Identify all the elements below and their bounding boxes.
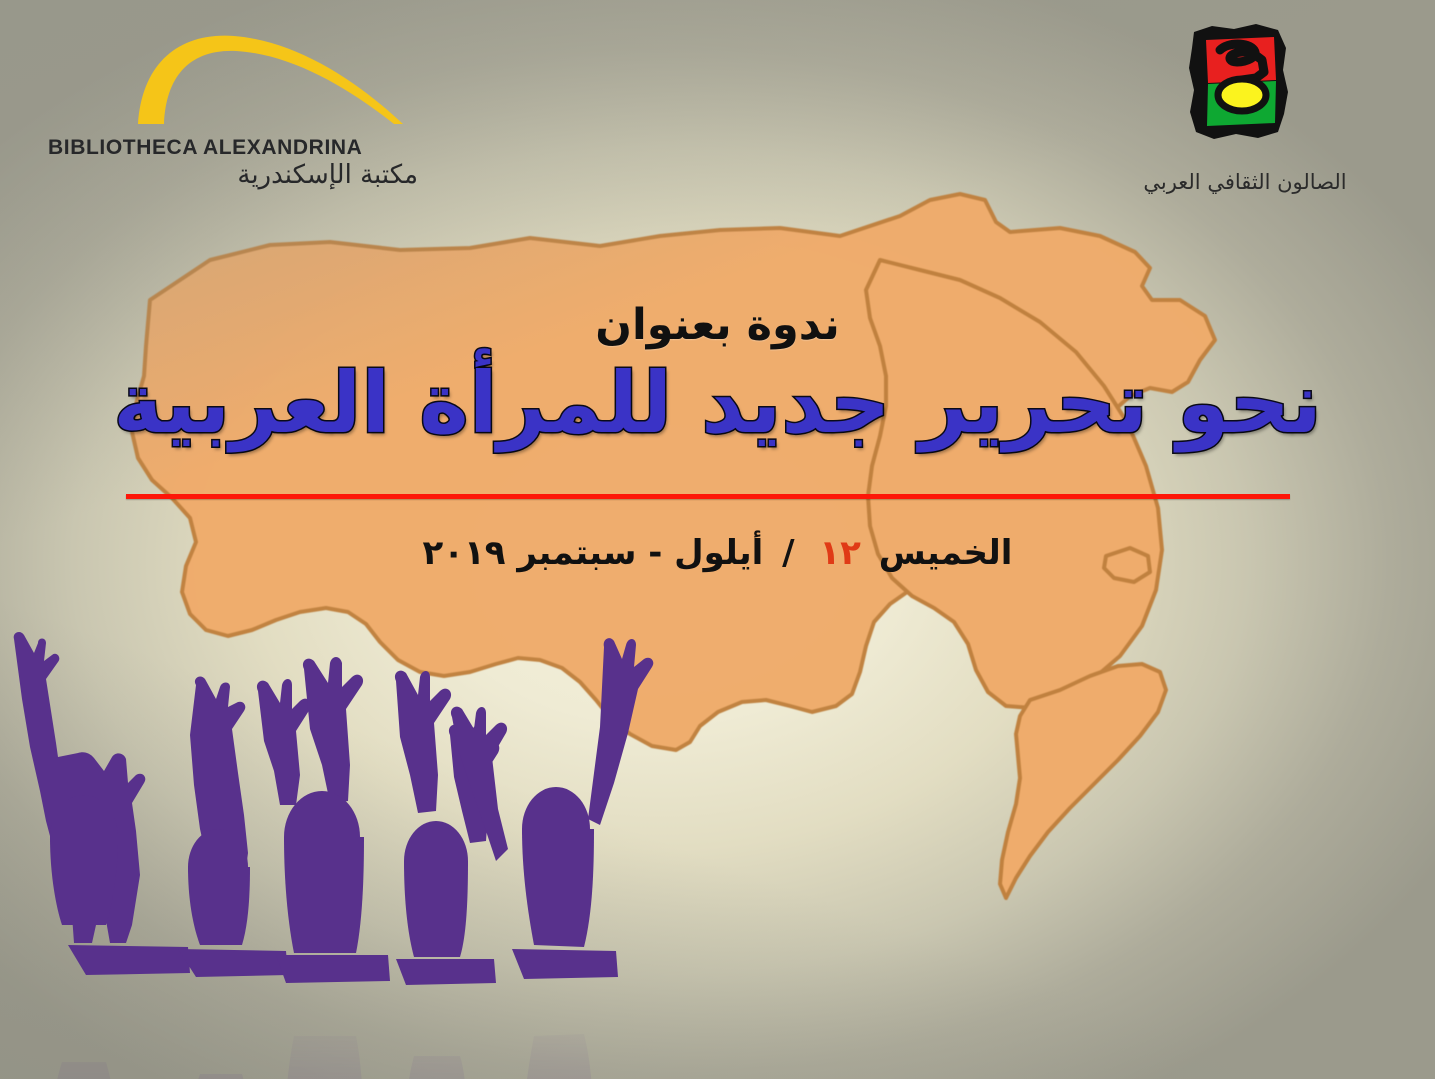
- dateline-day-number: ١٢: [813, 533, 867, 573]
- arab-cultural-salon-logo: الصالون الثقافي العربي: [1130, 18, 1360, 208]
- event-kicker: ندوة بعنوان: [0, 300, 1435, 350]
- dateline-separator: /: [775, 533, 801, 573]
- bibliotheca-alexandrina-logo: BIBLIOTHECA ALEXANDRINA مكتبة الإسكندرية: [38, 24, 418, 174]
- bibliotheca-name-en: BIBLIOTHECA ALEXANDRINA: [48, 136, 362, 160]
- event-dateline: الخميس ١٢ / أيلول - سبتمبر ٢٠١٩: [0, 533, 1435, 573]
- event-title: نحو تحرير جديد للمرأة العربية: [0, 358, 1435, 449]
- dateline-weekday: الخميس: [879, 533, 1013, 573]
- dateline-month-year: أيلول - سبتمبر ٢٠١٩: [423, 533, 764, 573]
- title-divider-rule: [126, 494, 1290, 499]
- library-arc-icon: [38, 24, 418, 134]
- cheering-women-silhouettes: [0, 625, 660, 1005]
- salon-name-ar: الصالون الثقافي العربي: [1130, 170, 1360, 194]
- event-poster: BIBLIOTHECA ALEXANDRINA مكتبة الإسكندرية…: [0, 0, 1435, 1079]
- bibliotheca-name-ar: مكتبة الإسكندرية: [237, 160, 418, 190]
- salon-mark-icon: [1182, 18, 1302, 148]
